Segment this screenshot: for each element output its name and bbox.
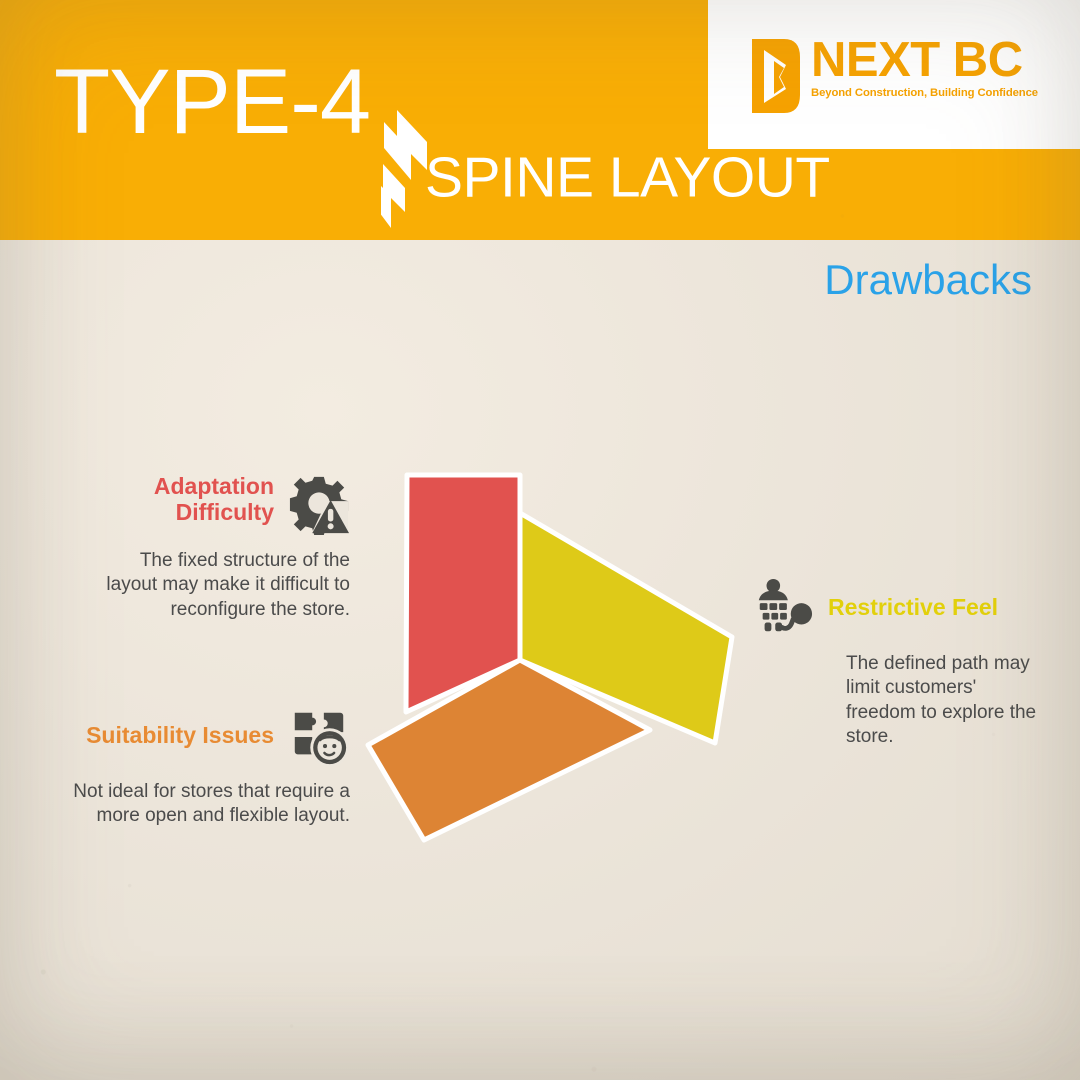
drawback-body: The fixed structure of the layout may ma… — [62, 549, 350, 622]
prisoner-ball-chain-icon — [752, 577, 814, 639]
puzzle-child-face-icon — [288, 705, 350, 767]
nextbc-monogram-icon — [750, 37, 802, 115]
drawback-title: Adaptation Difficulty — [154, 474, 274, 526]
spine-layout-isometric-diagram — [360, 455, 760, 865]
logo: NEXT BC Beyond Construction, Building Co… — [750, 37, 1038, 115]
infographic-canvas: NEXT BC Beyond Construction, Building Co… — [0, 0, 1080, 1080]
section-label-drawbacks: Drawbacks — [824, 259, 1032, 301]
header-banner: NEXT BC Beyond Construction, Building Co… — [0, 0, 1080, 240]
drawback-body: Not ideal for stores that require a more… — [34, 780, 350, 829]
drawback-title: Suitability Issues — [86, 723, 274, 749]
logo-tagline: Beyond Construction, Building Confidence — [811, 87, 1038, 99]
gear-warning-icon — [288, 474, 350, 536]
drawback-card-adaptation-difficulty: Adaptation Difficulty The fixed structur… — [62, 474, 350, 622]
drawback-title: Restrictive Feel — [828, 595, 998, 621]
drawback-card-suitability-issues: Suitability Issues Not ideal for stores … — [34, 705, 350, 829]
logo-wordmark: NEXT BC — [811, 37, 1038, 84]
logo-panel: NEXT BC Beyond Construction, Building Co… — [708, 0, 1080, 149]
page-title: TYPE-4 — [54, 56, 370, 148]
page-subtitle: SPINE LAYOUT — [425, 150, 830, 207]
drawback-body: The defined path may limit customers' fr… — [752, 652, 1048, 749]
drawback-card-restrictive-feel: Restrictive Feel The defined path may li… — [752, 577, 1048, 749]
